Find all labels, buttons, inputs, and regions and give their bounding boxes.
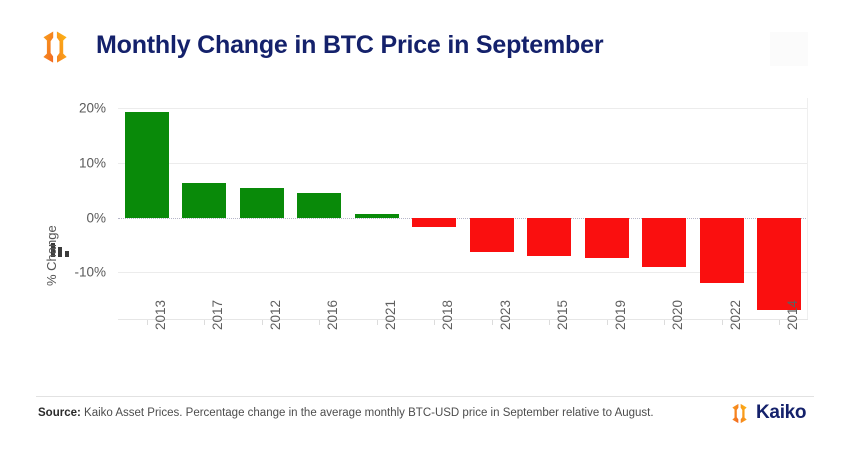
bar	[527, 218, 571, 256]
x-tick-label: 2015	[555, 300, 570, 330]
gridline-20	[118, 108, 808, 109]
kaiko-hexagon-bracket-icon	[38, 30, 72, 64]
y-tick-label: 10%	[79, 156, 106, 171]
x-tick-label: 2017	[210, 300, 225, 330]
bar	[240, 188, 284, 218]
plot-area: 2013201720122016202120182023201520192020…	[118, 90, 808, 320]
x-tick	[377, 320, 378, 325]
y-axis-tick-labels: 20% 10% 0% -10%	[60, 90, 112, 390]
x-tick-label: 2018	[440, 300, 455, 330]
x-tick	[262, 320, 263, 325]
bar	[182, 183, 226, 218]
bar	[412, 218, 456, 227]
bar	[700, 218, 744, 283]
x-tick-label: 2023	[498, 300, 513, 330]
header-placeholder-block	[770, 32, 808, 66]
x-tick	[779, 320, 780, 325]
brand-wordmark: Kaiko	[756, 402, 806, 424]
x-tick	[664, 320, 665, 325]
x-tick	[492, 320, 493, 325]
x-tick	[549, 320, 550, 325]
x-tick	[722, 320, 723, 325]
x-tick	[147, 320, 148, 325]
y-tick-label: -10%	[74, 265, 106, 280]
bar	[642, 218, 686, 267]
bar	[757, 218, 801, 310]
footer-divider	[36, 396, 814, 397]
bar	[125, 112, 169, 218]
page-title: Monthly Change in BTC Price in September	[96, 31, 603, 60]
x-tick-label: 2022	[728, 300, 743, 330]
header: Monthly Change in BTC Price in September	[0, 0, 850, 90]
x-tick-label: 2021	[383, 300, 398, 330]
y-tick-label: 20%	[79, 101, 106, 116]
x-tick-label: 2016	[325, 300, 340, 330]
x-tick-label: 2013	[153, 300, 168, 330]
bar	[470, 218, 514, 252]
bar	[355, 214, 399, 218]
x-tick-label: 2014	[785, 300, 800, 330]
x-tick	[319, 320, 320, 325]
source-text: Kaiko Asset Prices. Percentage change in…	[81, 407, 654, 419]
y-tick-label: 0%	[86, 211, 106, 226]
source-label: Source:	[38, 407, 81, 419]
source-note: Source: Kaiko Asset Prices. Percentage c…	[38, 407, 654, 419]
gridline-10	[118, 163, 808, 164]
x-tick	[434, 320, 435, 325]
bar	[297, 193, 341, 218]
bar	[585, 218, 629, 258]
x-tick-label: 2020	[670, 300, 685, 330]
footer-brand-logo: Kaiko	[729, 402, 806, 424]
x-tick-label: 2012	[268, 300, 283, 330]
chart-container: % Change 20% 10% 0% -10% 201320172012201…	[0, 90, 850, 390]
chart-page: Monthly Change in BTC Price in September…	[0, 0, 850, 454]
kaiko-hexagon-bracket-icon	[729, 403, 750, 424]
x-tick	[607, 320, 608, 325]
x-tick-label: 2019	[613, 300, 628, 330]
x-tick	[204, 320, 205, 325]
y-axis-title: % Change	[44, 225, 59, 286]
plot-right-edge	[807, 98, 808, 320]
